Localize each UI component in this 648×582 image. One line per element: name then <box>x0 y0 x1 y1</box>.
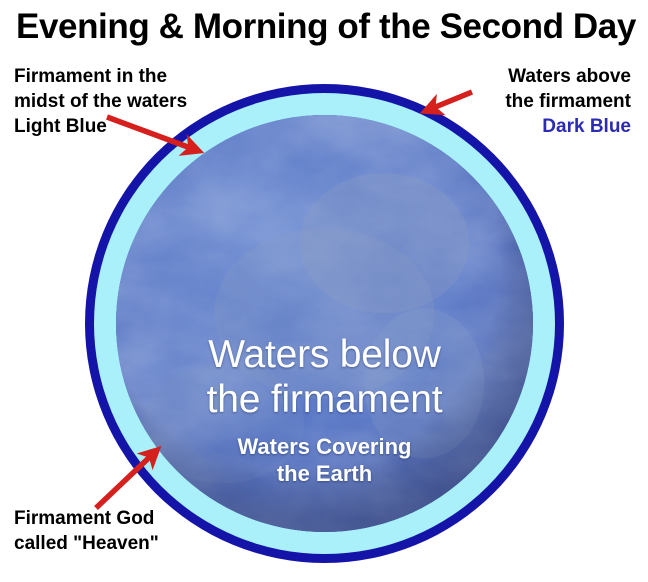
annotation-waters-above-the-firmament: Waters above the firmament Dark Blue <box>505 64 631 139</box>
earth-texture <box>116 115 533 532</box>
annotation-firmament-god-called-heaven: Firmament God called "Heaven" <box>14 506 159 556</box>
annotation-line: Firmament God <box>14 506 159 531</box>
annotation-line: Waters above <box>505 64 631 89</box>
annotation-line: Light Blue <box>14 114 187 139</box>
annotation-line: called "Heaven" <box>14 531 159 556</box>
earth-sphere <box>116 115 533 532</box>
annotation-line: Firmament in the <box>14 64 187 89</box>
annotation-line-dark-blue: Dark Blue <box>505 114 631 139</box>
page-title: Evening & Morning of the Second Day <box>16 4 636 50</box>
annotation-line: midst of the waters <box>14 89 187 114</box>
annotation-line: the firmament <box>505 89 631 114</box>
globe-diagram: Waters below the firmament Waters Coveri… <box>85 84 564 563</box>
annotation-firmament-in-the-midst: Firmament in the midst of the waters Lig… <box>14 64 187 139</box>
